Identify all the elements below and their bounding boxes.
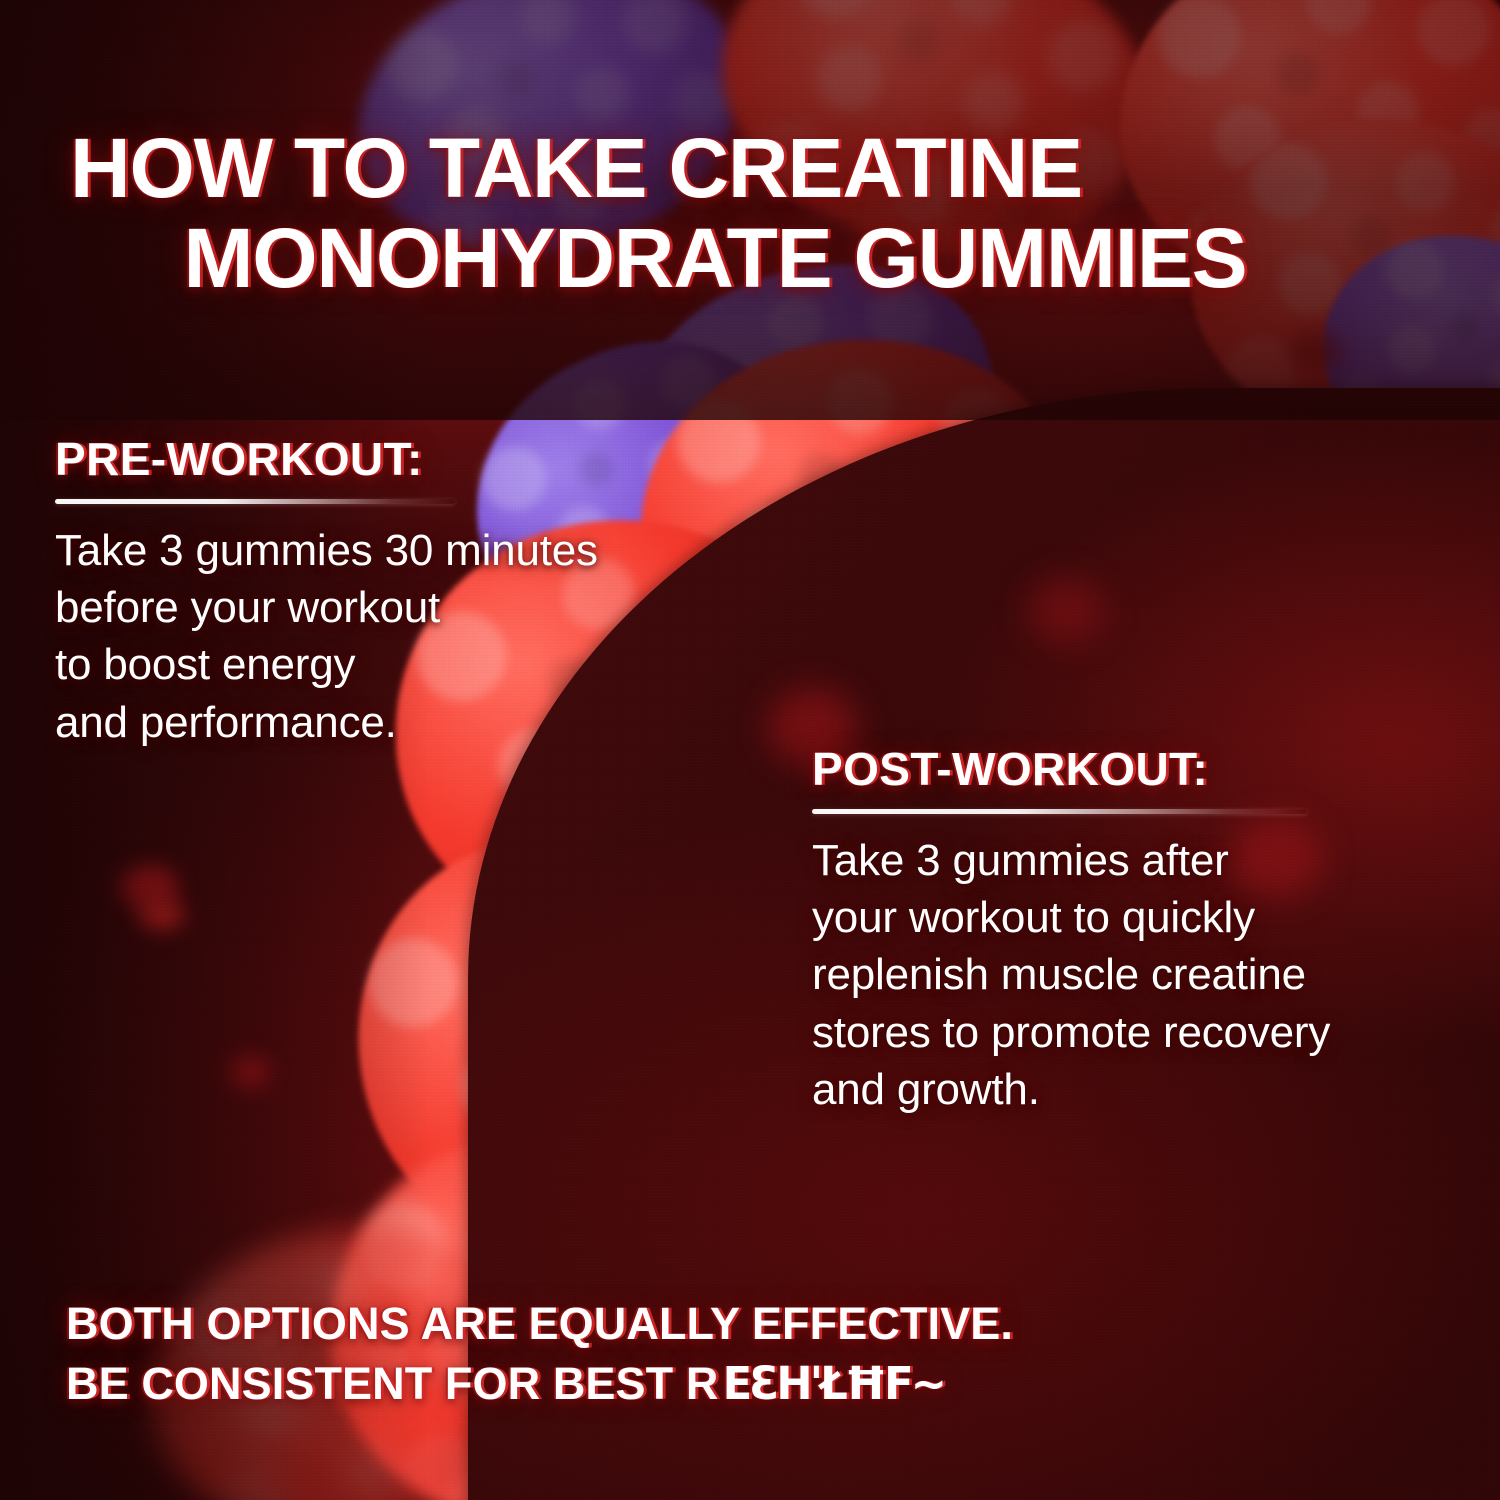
pre-workout-underline xyxy=(55,499,455,504)
post-workout-body-line: stores to promote recovery xyxy=(812,1004,1472,1061)
pre-workout-body: Take 3 gummies 30 minutes before your wo… xyxy=(55,522,795,751)
page-title: HOW TO TAKE CREATINE MONOHYDRATE GUMMIES xyxy=(70,124,1360,304)
pre-workout-body-line: Take 3 gummies 30 minutes xyxy=(55,522,795,579)
caption-garbled-word: EƐH'ŁĦF~ xyxy=(723,1354,944,1414)
caption-line-2: BE CONSISTENT FOR BEST REƐH'ŁĦF~ xyxy=(66,1354,1406,1414)
headline-line-1: HOW TO TAKE CREATINE xyxy=(70,121,1082,215)
poster-canvas: HOW TO TAKE CREATINE MONOHYDRATE GUMMIES… xyxy=(0,0,1500,1500)
post-workout-body: Take 3 gummies after your workout to qui… xyxy=(812,832,1472,1118)
caption-line-1: BOTH OPTIONS ARE EQUALLY EFFECTIVE. xyxy=(66,1294,1406,1354)
post-workout-body-line: Take 3 gummies after xyxy=(812,832,1472,889)
pre-workout-heading: PRE-WORKOUT: xyxy=(55,432,795,486)
post-workout-body-line: replenish muscle creatine xyxy=(812,946,1472,1003)
content-layer: HOW TO TAKE CREATINE MONOHYDRATE GUMMIES… xyxy=(0,0,1500,1500)
pre-workout-body-line: to boost energy xyxy=(55,636,795,693)
pre-workout-body-line: and performance. xyxy=(55,694,795,751)
footer-caption: BOTH OPTIONS ARE EQUALLY EFFECTIVE. BE C… xyxy=(66,1294,1406,1414)
post-workout-panel: POST-WORKOUT: Take 3 gummies after your … xyxy=(812,742,1472,1118)
caption-line-2-prefix: BE CONSISTENT FOR BEST R xyxy=(66,1358,718,1409)
pre-workout-body-line: before your workout xyxy=(55,579,795,636)
post-workout-body-line: and growth. xyxy=(812,1061,1472,1118)
pre-workout-panel: PRE-WORKOUT: Take 3 gummies 30 minutes b… xyxy=(55,432,795,751)
post-workout-underline xyxy=(812,809,1307,814)
post-workout-heading: POST-WORKOUT: xyxy=(812,742,1472,796)
headline-line-2: MONOHYDRATE GUMMIES xyxy=(70,214,1360,304)
post-workout-body-line: your workout to quickly xyxy=(812,889,1472,946)
